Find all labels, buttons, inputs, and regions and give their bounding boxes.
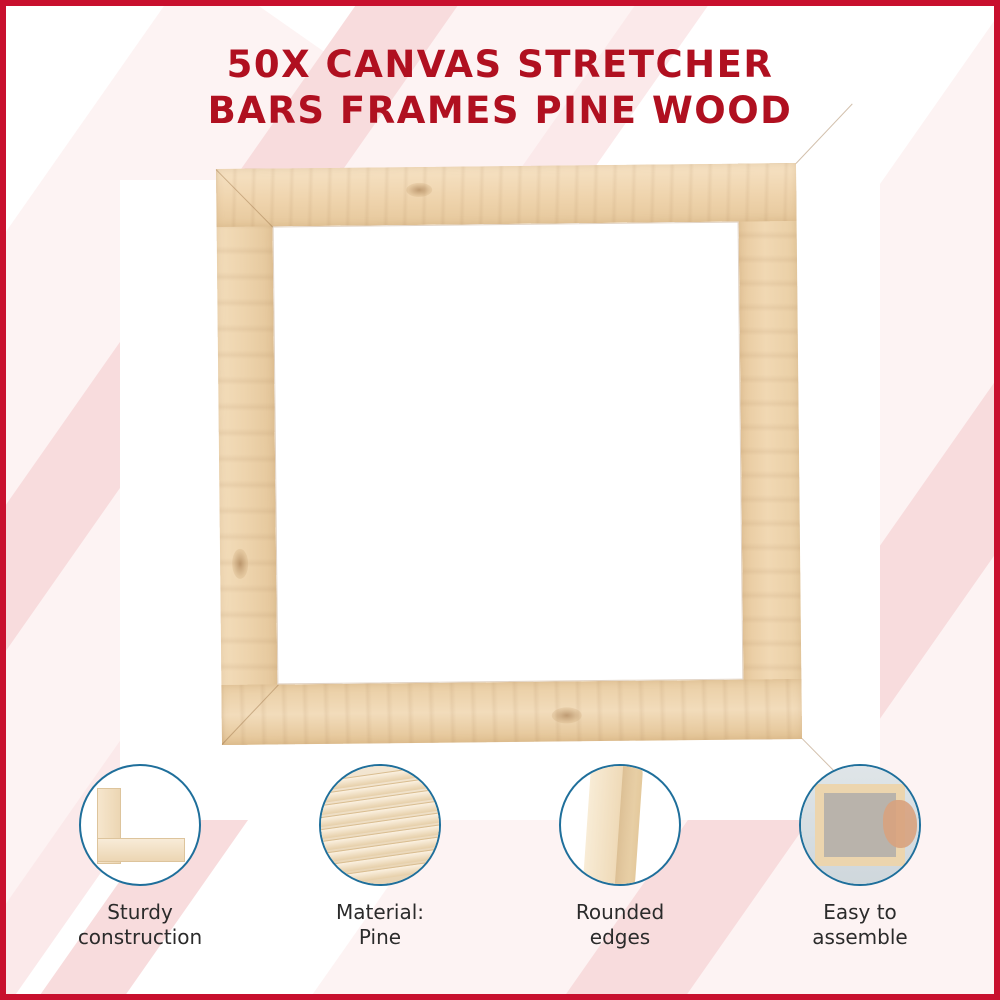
feature-list: Sturdy construction Material	[6, 764, 994, 984]
feature-item: Easy to assemble	[775, 764, 945, 950]
title-line-2: BARS FRAMES PINE WOOD	[6, 88, 994, 134]
frame-opening	[273, 222, 744, 685]
feature-label-line-2: construction	[55, 925, 225, 950]
corner-joint-icon	[79, 764, 201, 886]
feature-item: Sturdy construction	[55, 764, 225, 950]
feature-label: Sturdy construction	[55, 900, 225, 950]
feature-item: Material: Pine	[295, 764, 465, 950]
frame-bar-bottom	[221, 679, 802, 745]
product-image	[219, 166, 799, 742]
feature-label: Easy to assemble	[775, 900, 945, 950]
feature-item: Rounded edges	[535, 764, 705, 950]
feature-label: Rounded edges	[535, 900, 705, 950]
feature-label-line-2: edges	[535, 925, 705, 950]
assembled-canvas-icon	[799, 764, 921, 886]
stacked-bars-icon	[319, 764, 441, 886]
stretcher-frame	[216, 163, 802, 745]
frame-bar-left	[216, 168, 278, 745]
feature-label-line-1: Rounded	[535, 900, 705, 925]
wood-knot	[232, 549, 248, 579]
feature-label-line-1: Easy to	[775, 900, 945, 925]
rounded-edge-bar-icon	[559, 764, 681, 886]
product-poster: 50X CANVAS STRETCHER BARS FRAMES PINE WO…	[0, 0, 1000, 1000]
feature-label-line-2: assemble	[775, 925, 945, 950]
feature-label: Material: Pine	[295, 900, 465, 950]
frame-bar-top	[216, 163, 797, 227]
feature-label-line-2: Pine	[295, 925, 465, 950]
title-line-1: 50X CANVAS STRETCHER	[6, 42, 994, 88]
page-title: 50X CANVAS STRETCHER BARS FRAMES PINE WO…	[6, 42, 994, 134]
frame-bar-right	[738, 163, 802, 740]
feature-label-line-1: Material:	[295, 900, 465, 925]
feature-label-line-1: Sturdy	[55, 900, 225, 925]
